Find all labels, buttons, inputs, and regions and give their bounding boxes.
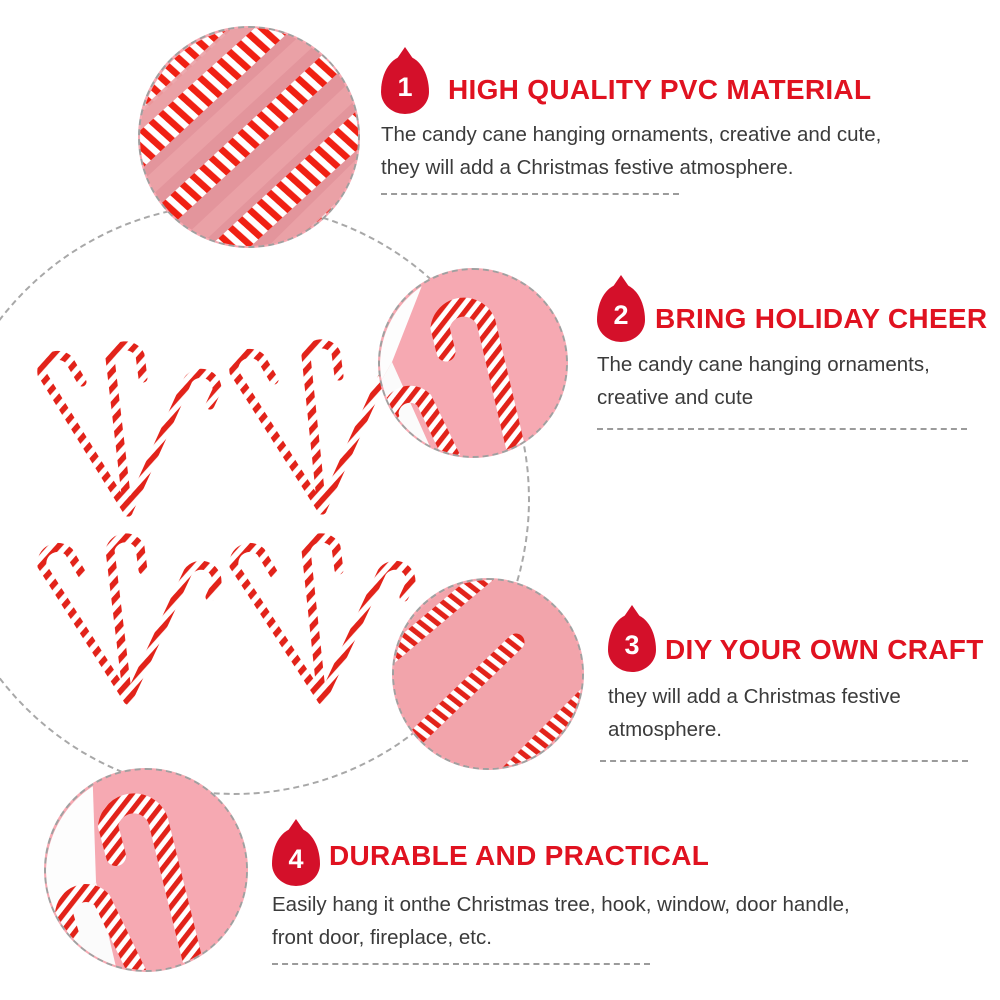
feature-block-4: DURABLE AND PRACTICAL (329, 842, 729, 870)
feature-number-3: 3 (624, 632, 639, 659)
feature-body-1: The candy cane hanging ornaments, creati… (381, 118, 901, 184)
feature-number-2: 2 (613, 302, 628, 329)
photo-callout-3 (392, 578, 584, 770)
feature-body-line-2-1: The candy cane hanging ornaments, (597, 348, 997, 381)
feature-body-line-4-1: Easily hang it onthe Christmas tree, hoo… (272, 888, 962, 921)
feature-title-4: DURABLE AND PRACTICAL (329, 842, 729, 870)
feature-badge-3: 3 (608, 614, 656, 672)
feature-badge-4: 4 (272, 828, 320, 886)
feature-number-1: 1 (397, 74, 412, 101)
feature-divider-1 (381, 193, 679, 195)
infographic-canvas: 1 HIGH QUALITY PVC MATERIAL The candy ca… (0, 0, 1000, 1000)
photo-callout-2 (378, 268, 568, 458)
feature-badge-2: 2 (597, 284, 645, 342)
feature-body-3: they will add a Christmas festive atmosp… (608, 680, 998, 746)
feature-body-line-2-2: creative and cute (597, 381, 997, 414)
feature-body-2: The candy cane hanging ornaments, creati… (597, 348, 997, 414)
product-photo (10, 300, 430, 700)
feature-divider-2 (597, 428, 967, 430)
photo-callout-1 (138, 26, 360, 248)
feature-body-line-4-2: front door, fireplace, etc. (272, 921, 962, 954)
feature-block-2: BRING HOLIDAY CHEER (655, 305, 1000, 333)
feature-block-3: DIY YOUR OWN CRAFT (665, 636, 1000, 664)
feature-divider-3 (600, 760, 968, 762)
feature-divider-4 (272, 963, 650, 965)
feature-body-line-3-2: atmosphere. (608, 713, 998, 746)
feature-body-line-1-1: The candy cane hanging ornaments, creati… (381, 118, 901, 151)
feature-title-3: DIY YOUR OWN CRAFT (665, 636, 1000, 664)
feature-title-2: BRING HOLIDAY CHEER (655, 305, 1000, 333)
feature-block-1: HIGH QUALITY PVC MATERIAL (448, 76, 958, 104)
feature-badge-1: 1 (381, 56, 429, 114)
feature-title-1: HIGH QUALITY PVC MATERIAL (448, 76, 958, 104)
feature-body-4: Easily hang it onthe Christmas tree, hoo… (272, 888, 962, 954)
feature-number-4: 4 (288, 846, 303, 873)
feature-body-line-1-2: they will add a Christmas festive atmosp… (381, 151, 901, 184)
photo-callout-4 (44, 768, 248, 972)
feature-body-line-3-1: they will add a Christmas festive (608, 680, 998, 713)
